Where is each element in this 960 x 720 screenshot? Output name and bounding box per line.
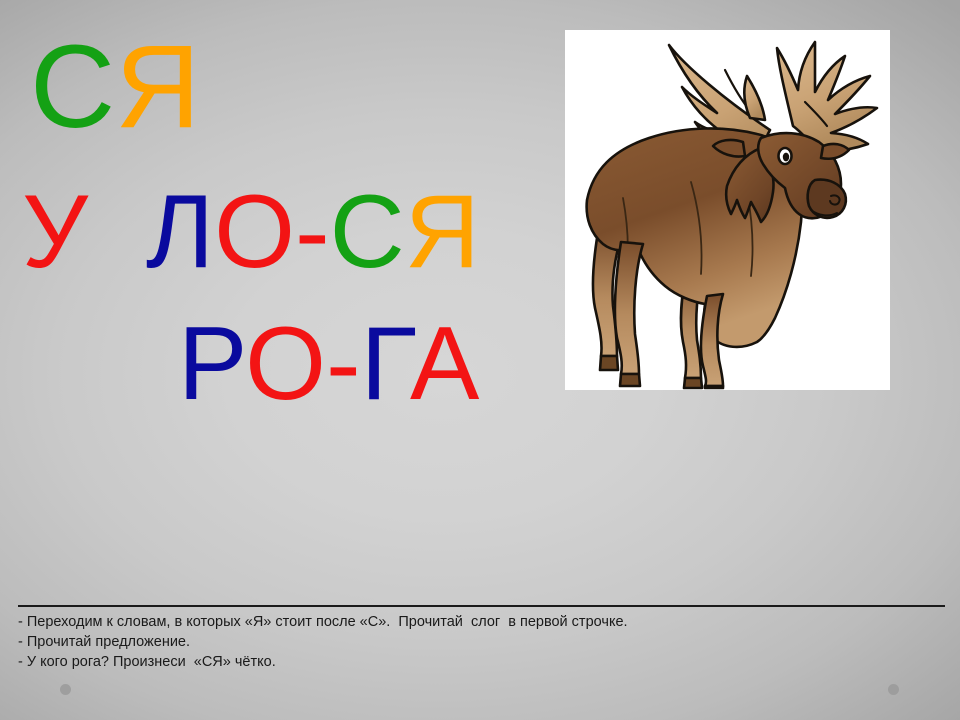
notes-block: - Переходим к словам, в которых «Я» стои… <box>18 612 938 672</box>
moose-illustration-svg <box>565 30 890 390</box>
letter-line-ulosya-5: С <box>330 174 405 290</box>
decorative-dot-right <box>888 684 899 695</box>
note-line-1: - Переходим к словам, в которых «Я» стои… <box>18 612 938 632</box>
letter-line-ulosya-4: - <box>295 174 330 290</box>
letter-line-ulosya-3: О <box>214 174 295 290</box>
letter-line-roga-2: - <box>326 306 361 422</box>
word-line-sya: СЯ <box>0 28 540 146</box>
notes-divider <box>18 605 945 607</box>
note-line-2: - Прочитай предложение. <box>18 632 938 652</box>
word-block: СЯ У ЛО-СЯ РО-ГА <box>0 28 540 416</box>
letter-line-roga-1: О <box>245 306 326 422</box>
letter-line-roga-0: Р <box>178 306 245 422</box>
letter-line-ulosya-6: Я <box>405 174 480 290</box>
letter-line-sya-1: Я <box>115 21 200 153</box>
letter-line-roga-4: А <box>410 306 479 422</box>
moose-picture <box>565 30 890 390</box>
letter-line-ulosya-1 <box>88 174 146 290</box>
letter-line-roga-3: Г <box>361 306 410 422</box>
letter-line-ulosya-2: Л <box>146 174 214 290</box>
slide-canvas: СЯ У ЛО-СЯ РО-ГА <box>0 0 960 720</box>
letter-line-sya-0: С <box>30 21 115 153</box>
note-line-3: - У кого рога? Произнеси «СЯ» чётко. <box>18 652 938 672</box>
word-line-roga: РО-ГА <box>0 312 540 416</box>
decorative-dot-left <box>60 684 71 695</box>
letter-line-ulosya-0: У <box>22 174 88 290</box>
word-line-u-losya: У ЛО-СЯ <box>0 180 540 284</box>
